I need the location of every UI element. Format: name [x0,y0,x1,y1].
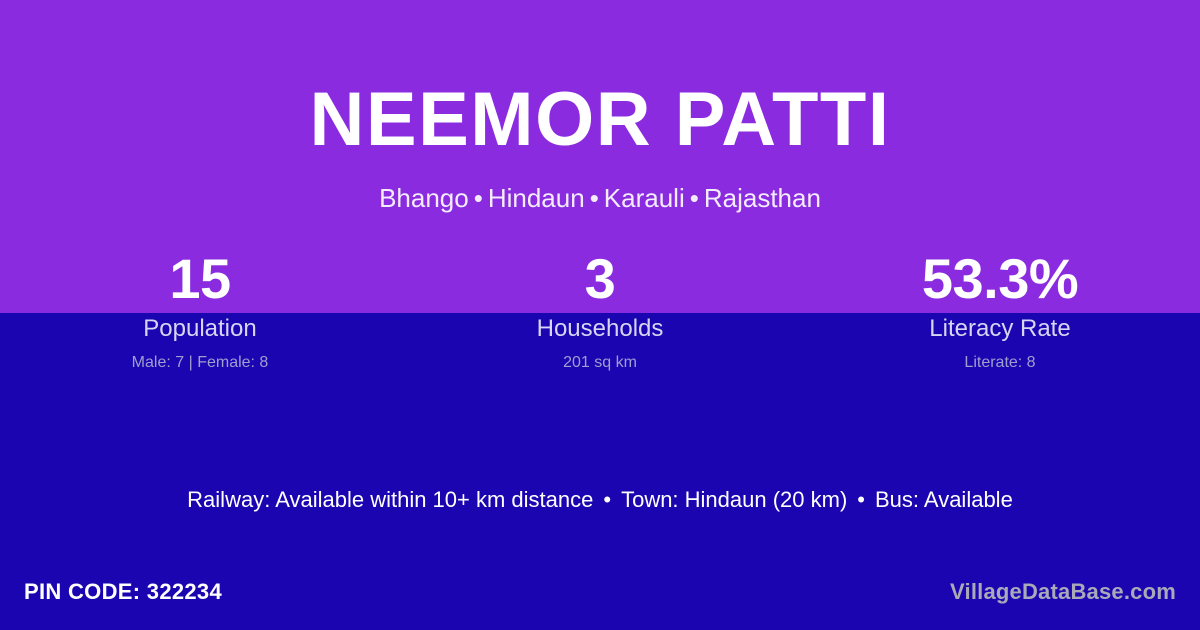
village-info-card: NEEMOR PATTI Bhango•Hindaun•Karauli•Raja… [0,0,1200,630]
stats-row: 15 Population Male: 7 | Female: 8 3 Hous… [0,248,1200,374]
stat-literacy-rate: 53.3% Literacy Rate Literate: 8 [800,248,1200,374]
stat-label: Literacy Rate [800,314,1200,344]
stat-label: Population [0,314,400,344]
stat-value: 53.3% [800,248,1200,310]
stat-sublabel: Literate: 8 [800,352,1200,374]
brand-watermark: VillageDataBase.com [950,579,1176,605]
amenity-separator: • [847,487,875,512]
breadcrumb-separator: • [469,183,488,213]
pin-code: PIN CODE: 322234 [24,579,222,605]
footer: PIN CODE: 322234 VillageDataBase.com [0,566,1200,630]
stat-sublabel: Male: 7 | Female: 8 [0,352,400,374]
breadcrumb-separator: • [585,183,604,213]
stat-households: 3 Households 201 sq km [400,248,800,374]
amenities-line: Railway: Available within 10+ km distanc… [0,486,1200,514]
stat-label: Households [400,314,800,344]
stat-population: 15 Population Male: 7 | Female: 8 [0,248,400,374]
breadcrumb: Bhango•Hindaun•Karauli•Rajasthan [0,184,1200,214]
stat-sublabel: 201 sq km [400,352,800,374]
amenity-separator: • [593,487,621,512]
breadcrumb-part-block: Bhango [379,183,469,213]
breadcrumb-part-state: Rajasthan [704,183,821,213]
amenity-town: Town: Hindaun (20 km) [621,487,847,512]
breadcrumb-part-tehsil: Hindaun [488,183,585,213]
stat-value: 15 [0,248,400,310]
breadcrumb-part-district: Karauli [604,183,685,213]
amenity-railway: Railway: Available within 10+ km distanc… [187,487,593,512]
page-title: NEEMOR PATTI [0,82,1200,158]
stat-value: 3 [400,248,800,310]
amenity-bus: Bus: Available [875,487,1013,512]
breadcrumb-separator: • [685,183,704,213]
